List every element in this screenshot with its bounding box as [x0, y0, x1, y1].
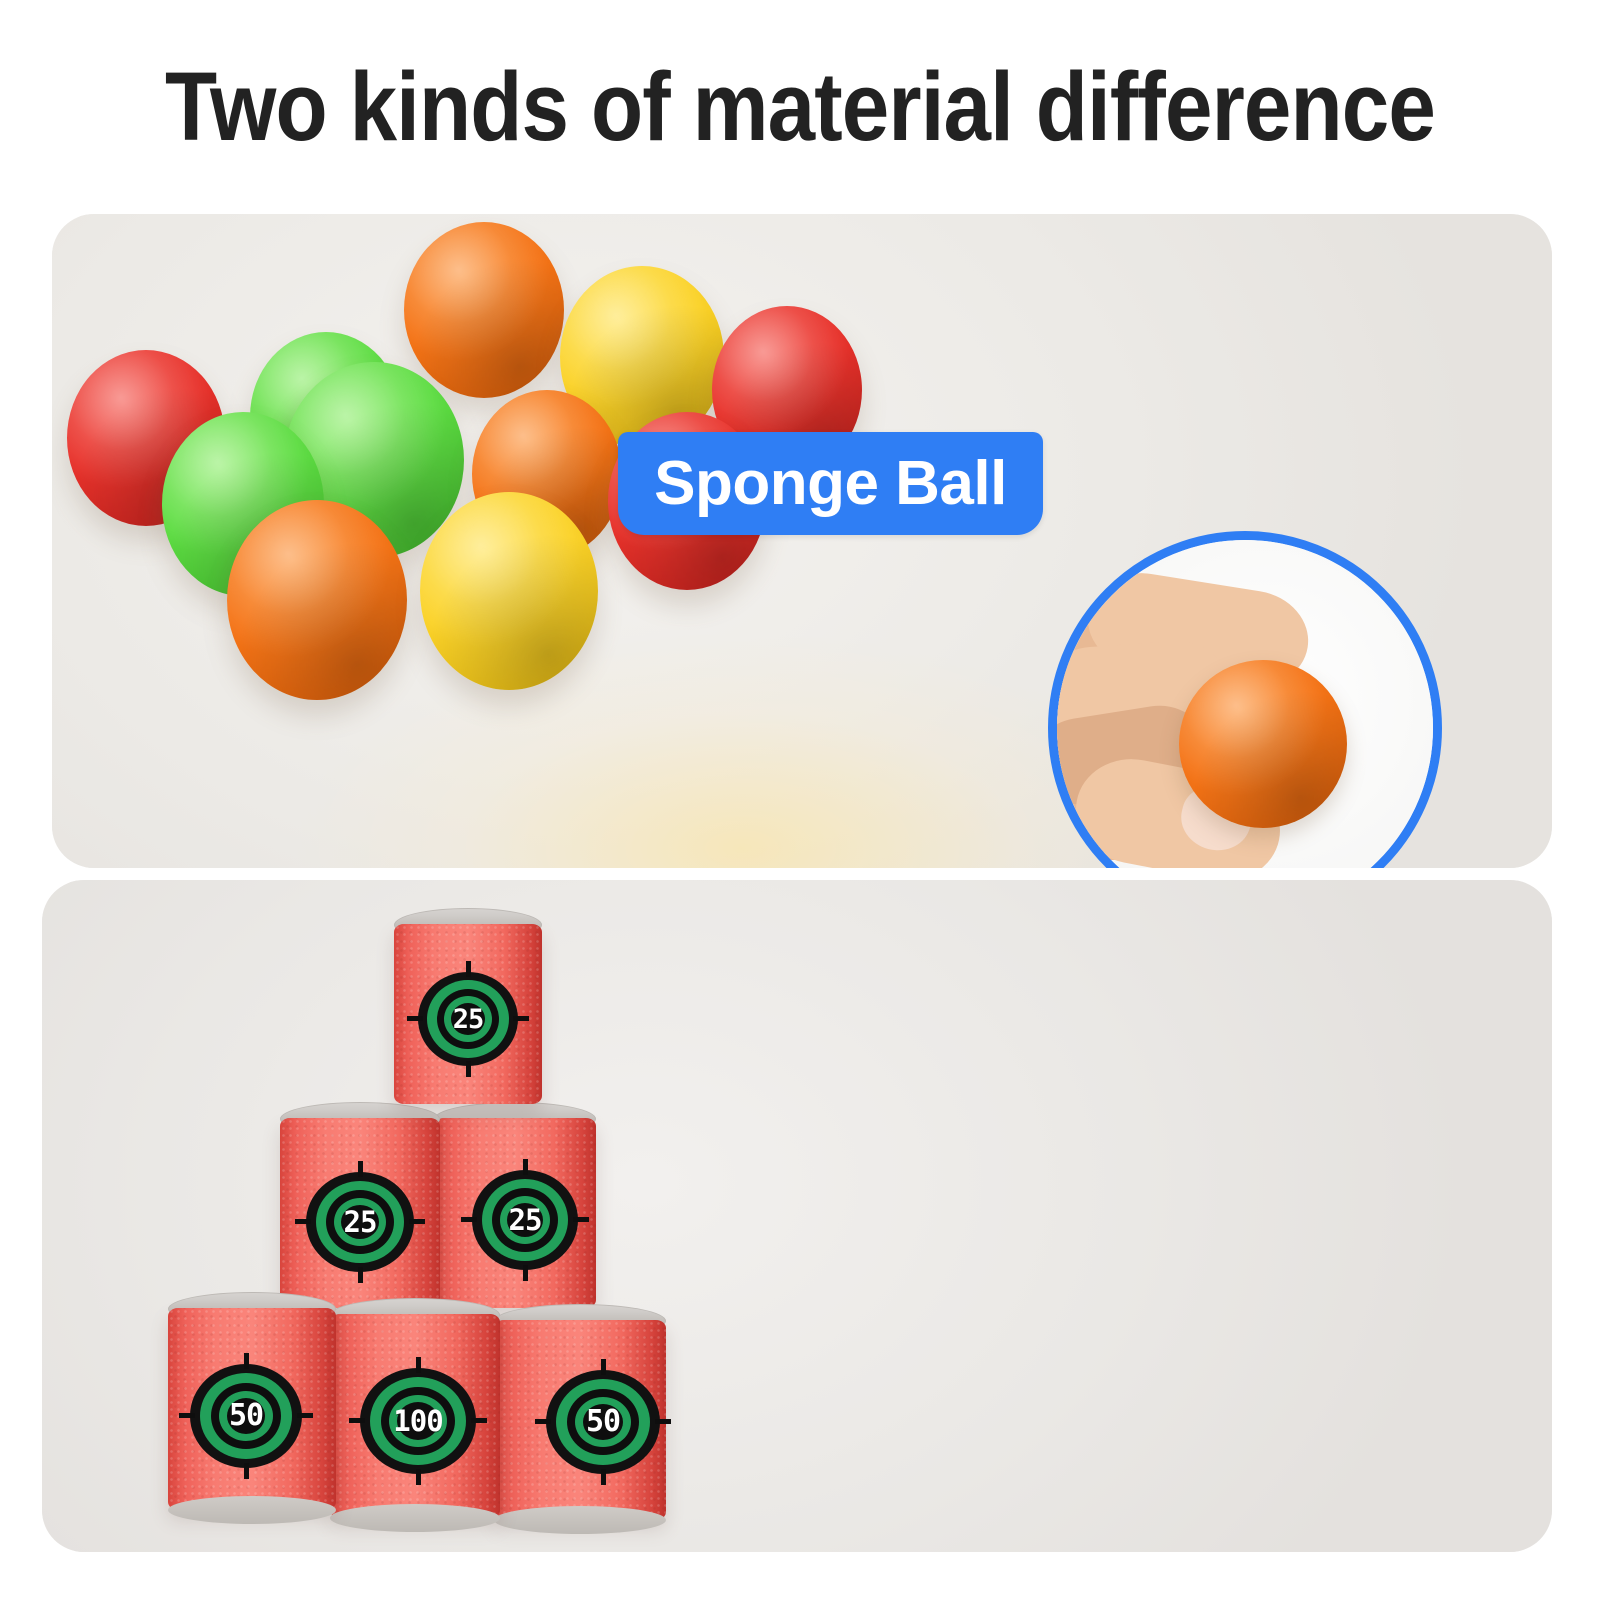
target-tick-bottom — [358, 1267, 363, 1283]
target-tick-left — [535, 1419, 551, 1424]
target-tick-left — [179, 1413, 195, 1418]
sponge-ball-photo — [52, 214, 952, 868]
drum-foot — [168, 1496, 336, 1524]
drum-target: 50 — [190, 1364, 302, 1468]
held-sponge-ball — [1179, 660, 1347, 828]
target-tick-right — [655, 1419, 671, 1424]
foam-drum: 25 — [394, 908, 542, 1104]
target-score: 50 — [229, 1401, 263, 1431]
target-score: 100 — [393, 1407, 442, 1436]
target-tick-right — [573, 1217, 589, 1222]
target-tick-bottom — [244, 1463, 249, 1479]
target-score: 25 — [453, 1006, 484, 1033]
target-tick-right — [409, 1219, 425, 1224]
target-score: 50 — [586, 1407, 620, 1437]
target-tick-top — [601, 1359, 606, 1375]
foam-drum: 50 — [494, 1304, 666, 1520]
target-tick-right — [471, 1418, 487, 1423]
target-tick-bottom — [523, 1265, 528, 1281]
eva-material-inset — [1048, 531, 1442, 868]
drum-foot — [330, 1504, 500, 1532]
target-score: 25 — [509, 1206, 542, 1235]
target-tick-top — [466, 961, 471, 977]
sponge-ball — [227, 500, 407, 700]
target-tick-left — [461, 1217, 477, 1222]
target-tick-top — [358, 1161, 363, 1177]
target-tick-top — [416, 1357, 421, 1373]
foam-drum: 50 — [168, 1292, 336, 1510]
sponge-ball — [420, 492, 598, 690]
drum-target: 50 — [546, 1370, 660, 1474]
foam-drum: 100 — [330, 1298, 500, 1518]
drum-target: 100 — [360, 1368, 476, 1474]
drum-target: 25 — [418, 972, 518, 1066]
target-tick-bottom — [466, 1061, 471, 1077]
target-score: 25 — [344, 1208, 377, 1237]
target-tick-left — [349, 1418, 365, 1423]
foam-drum: 25 — [434, 1102, 596, 1308]
sponge-ball-badge: Sponge Ball — [618, 432, 1043, 535]
eva-inset-scene — [1057, 540, 1433, 868]
foam-drum: 25 — [280, 1102, 440, 1308]
infographic-page: Two kinds of material difference Sponge … — [0, 0, 1600, 1600]
foam-drum-panel: 25 25 — [42, 880, 1552, 1552]
sponge-ball-panel: Sponge Ball EVA Material — [52, 214, 1552, 868]
target-tick-left — [407, 1016, 423, 1021]
target-tick-bottom — [416, 1469, 421, 1485]
foam-drum-photo: 25 25 — [42, 880, 862, 1552]
page-title: Two kinds of material difference — [96, 58, 1504, 155]
target-tick-left — [295, 1219, 311, 1224]
target-tick-right — [297, 1413, 313, 1418]
sponge-ball — [404, 222, 564, 398]
target-tick-top — [244, 1353, 249, 1369]
target-tick-top — [523, 1159, 528, 1175]
drum-foot — [494, 1506, 666, 1534]
drum-target: 25 — [472, 1170, 578, 1270]
target-tick-right — [513, 1016, 529, 1021]
target-tick-bottom — [601, 1469, 606, 1485]
drum-target: 25 — [306, 1172, 414, 1272]
